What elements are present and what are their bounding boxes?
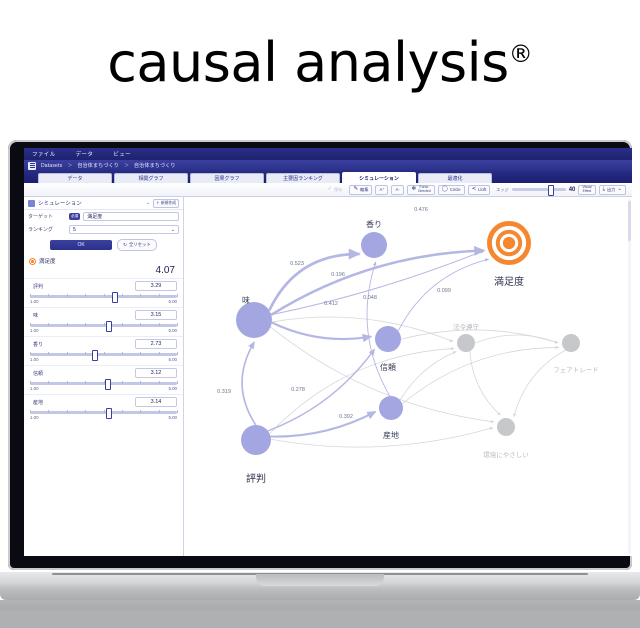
edge-weight-label: 0.278 <box>291 387 305 393</box>
slider-header: 信頼 3.12 <box>30 368 177 378</box>
slider-min: 1.00 <box>30 299 39 304</box>
slider-knob[interactable] <box>105 379 111 390</box>
network-icon: ✻ <box>411 187 416 193</box>
slider-ticks <box>30 410 177 414</box>
target-input[interactable]: 満足度 <box>83 212 179 221</box>
tab-bar: データ 相関グラフ 因果グラフ 主要因ランキング シミュレーション 最適化 <box>24 171 632 183</box>
layout-force-directed-label: Force- Directed <box>418 186 431 193</box>
ranking-label: ランキング <box>28 226 66 233</box>
toolbar: ✓ 保存 ✎ 編集 A⁺ A⁻ <box>24 183 632 197</box>
edge-weight-label: 0.196 <box>331 272 345 278</box>
slider-max: 5.00 <box>168 328 177 333</box>
ranking-value: 5 <box>73 227 76 233</box>
registered-trademark-icon: ® <box>509 40 533 68</box>
slider-min: 1.00 <box>30 415 39 420</box>
slider-header: 味 3.15 <box>30 310 177 320</box>
edge-weight-label: 0.412 <box>324 301 338 307</box>
slider-range: 1.00 6.00 <box>30 299 177 304</box>
graph-node-label: 産地 <box>383 430 399 441</box>
slider-value-input[interactable]: 3.12 <box>135 368 177 378</box>
refresh-icon: ↻ <box>123 242 127 248</box>
graph-node <box>361 232 387 258</box>
edit-label: 編集 <box>360 187 368 193</box>
simulation-panel-header: シミュレーション ⌄ ＋ 新規作成 <box>24 197 183 210</box>
slider-label: 信頼 <box>30 370 43 377</box>
slider-track[interactable] <box>30 323 177 327</box>
slider-value-input[interactable]: 3.14 <box>135 397 177 407</box>
graph-node <box>241 425 271 455</box>
causal-graph-svg[interactable] <box>184 197 632 556</box>
desk-surface <box>0 610 640 628</box>
graph-node <box>497 418 515 436</box>
breadcrumb-item-project[interactable]: 自治体まちづくり <box>77 162 119 169</box>
graph-node-label: 満足度 <box>494 273 524 288</box>
slider-label: 香り <box>30 341 43 348</box>
action-buttons: OK ↻ 全リセット <box>24 236 183 255</box>
tab-optimization[interactable]: 最適化 <box>418 173 492 183</box>
download-icon: ⤓ <box>603 187 605 193</box>
tab-data[interactable]: データ <box>38 173 112 183</box>
graph-node-label: 法令遵守 <box>453 321 479 331</box>
pencil-icon: ✎ <box>353 187 358 193</box>
slider-item: 評判 3.29 1.00 6.00 <box>24 278 183 307</box>
edge-weight-label: 0.048 <box>363 295 377 301</box>
graph-node <box>379 396 403 420</box>
ranking-select[interactable]: 5 ⌄ <box>69 225 179 234</box>
slider-item: 信頼 3.12 1.00 5.00 <box>24 365 183 394</box>
tab-simulation[interactable]: シミュレーション <box>342 172 416 183</box>
result-target-name: 満足度 <box>39 257 56 265</box>
slider-value-input[interactable]: 3.29 <box>135 281 177 291</box>
plus-icon: ＋ <box>156 201 160 206</box>
edge-weight-label: 0.476 <box>414 207 428 213</box>
slider-item: 味 3.15 1.00 5.00 <box>24 307 183 336</box>
chevron-down-icon[interactable]: ⌄ <box>146 200 150 206</box>
laptop-base-shadow <box>0 600 640 610</box>
slider-knob[interactable] <box>92 350 98 361</box>
slider-max: 5.00 <box>168 415 177 420</box>
laptop-screen: ファイル データ ビュー Datasets ＞ 自治体まちづくり ＞ 自治体まち… <box>24 148 632 556</box>
slider-header: 香り 2.73 <box>30 339 177 349</box>
edit-button[interactable]: ✎ 編集 <box>349 185 372 195</box>
slider-range: 1.00 5.00 <box>30 386 177 391</box>
save-label: 保存 <box>334 187 342 193</box>
slider-range: 1.00 5.00 <box>30 357 177 362</box>
breadcrumb-item-dataset[interactable]: 自治体まちづくり <box>134 162 176 169</box>
new-simulation-button[interactable]: ＋ 新規作成 <box>153 199 179 208</box>
required-badge: 必須 <box>69 213 80 220</box>
dataset-icon <box>28 162 36 170</box>
wordmark-text: causal analysis <box>107 31 509 94</box>
font-increase-button[interactable]: A⁺ <box>375 185 388 195</box>
slider-track[interactable] <box>30 410 177 414</box>
slider-ticks <box>30 381 177 385</box>
font-decrease-icon: A⁻ <box>395 187 400 192</box>
menu-bar: ファイル データ ビュー <box>24 148 632 160</box>
laptop-mockup: ファイル データ ビュー Datasets ＞ 自治体まちづくり ＞ 自治体まち… <box>0 140 640 628</box>
slider-header: 評判 3.29 <box>30 281 177 291</box>
slider-max: 5.00 <box>168 357 177 362</box>
chevron-down-icon: ⌄ <box>617 187 622 193</box>
laptop-lid: ファイル データ ビュー Datasets ＞ 自治体まちづくり ＞ 自治体まち… <box>8 140 632 570</box>
slider-track[interactable] <box>30 352 177 356</box>
ranking-field-row: ランキング 5 ⌄ <box>24 223 183 236</box>
slider-track[interactable] <box>30 381 177 385</box>
slider-header: 産地 3.14 <box>30 397 177 407</box>
slider-label: 味 <box>30 312 38 319</box>
save-button[interactable]: ✓ 保存 <box>323 185 346 195</box>
ok-button[interactable]: OK <box>50 240 112 250</box>
slider-range: 1.00 5.00 <box>30 415 177 420</box>
tab-correlation-graph[interactable]: 相関グラフ <box>114 173 188 183</box>
graph-node-label: 環境にやさしい <box>483 449 529 459</box>
edge-threshold-slider[interactable]: エッジ 40 <box>496 187 575 193</box>
slider-knob[interactable] <box>106 408 112 419</box>
graph-node <box>562 334 580 352</box>
menu-item-data[interactable]: データ <box>76 150 94 158</box>
slider-value-input[interactable]: 3.15 <box>135 310 177 320</box>
edge-threshold-label: エッジ <box>496 187 509 193</box>
simulation-panel-title: シミュレーション <box>38 199 143 207</box>
slider-knob[interactable] <box>106 321 112 332</box>
new-simulation-label: 新規作成 <box>161 201 176 206</box>
tab-factor-ranking[interactable]: 主要因ランキング <box>266 173 340 183</box>
slider-max: 5.00 <box>168 386 177 391</box>
slider-knob[interactable] <box>112 292 118 303</box>
application-window: ファイル データ ビュー Datasets ＞ 自治体まちづくり ＞ 自治体まち… <box>24 148 632 556</box>
simulation-icon <box>28 200 35 207</box>
reset-all-button[interactable]: ↻ 全リセット <box>117 239 157 251</box>
share-icon: ≺ <box>472 187 477 193</box>
causal-graph-canvas[interactable]: 香り味信頼産地評判満足度法令遵守フェアトレード環境にやさしい0.5230.476… <box>184 197 632 556</box>
breadcrumb: Datasets ＞ 自治体まちづくり ＞ 自治体まちづくり <box>24 160 632 171</box>
graph-node-label: 信頼 <box>380 362 396 373</box>
menu-item-view[interactable]: ビュー <box>113 150 131 158</box>
visual-effect-button[interactable]: Visual Effect <box>578 185 595 195</box>
tab-causal-graph[interactable]: 因果グラフ <box>190 173 264 183</box>
edge-weight-label: 0.392 <box>339 414 353 420</box>
layout-circle-button[interactable]: ◯ Circle <box>438 185 465 195</box>
slider-ticks <box>30 352 177 356</box>
graph-node-label: 味 <box>242 295 250 306</box>
edge-threshold-value: 40 <box>569 187 576 193</box>
graph-node <box>457 334 475 352</box>
layout-left-label: Lloft <box>478 187 486 192</box>
slider-ticks <box>30 323 177 327</box>
graph-node-label: フェアトレード <box>553 364 599 374</box>
slider-min: 1.00 <box>30 386 39 391</box>
edge-weight-label: 0.099 <box>437 288 451 294</box>
breadcrumb-separator: ＞ <box>124 162 129 169</box>
slider-value-input[interactable]: 2.73 <box>135 339 177 349</box>
graph-node-label: 香り <box>366 219 382 230</box>
result-target-value: 4.07 <box>24 265 183 278</box>
layout-circle-label: Circle <box>450 187 461 192</box>
target-node-icon <box>29 258 36 265</box>
circle-icon: ◯ <box>442 187 448 193</box>
slider-label: 評判 <box>30 283 43 290</box>
result-target-row: 満足度 <box>24 255 183 265</box>
graph-node-label: 評判 <box>246 470 266 485</box>
simulation-panel: シミュレーション ⌄ ＋ 新規作成 ターゲット 必須 満足度 <box>24 197 184 556</box>
edge-weight-label: 0.319 <box>217 389 231 395</box>
slider-max: 6.00 <box>168 299 177 304</box>
breadcrumb-item-datasets[interactable]: Datasets <box>41 163 62 169</box>
target-label: ターゲット <box>28 213 66 220</box>
laptop-notch <box>256 574 384 586</box>
slider-min: 1.00 <box>30 328 39 333</box>
menu-item-file[interactable]: ファイル <box>32 150 56 158</box>
graph-node <box>236 302 272 338</box>
wordmark: causal analysis® <box>0 36 640 90</box>
slider-min: 1.00 <box>30 357 39 362</box>
canvas-scrollbar[interactable] <box>628 199 631 554</box>
slider-item: 香り 2.73 1.00 5.00 <box>24 336 183 365</box>
layout-left-button[interactable]: ≺ Lloft <box>468 185 491 195</box>
slider-range: 1.00 5.00 <box>30 328 177 333</box>
slider-ticks <box>30 294 177 298</box>
check-icon: ✓ <box>327 187 332 193</box>
font-increase-icon: A⁺ <box>379 187 384 192</box>
graph-node <box>375 326 401 352</box>
target-field-row: ターゲット 必須 満足度 <box>24 210 183 223</box>
edge-threshold-knob[interactable] <box>548 185 554 196</box>
edge-threshold-track[interactable] <box>512 188 566 191</box>
reset-all-label: 全リセット <box>129 242 151 248</box>
visual-effect-label: Visual Effect <box>582 186 591 193</box>
font-decrease-button[interactable]: A⁻ <box>391 185 404 195</box>
download-button[interactable]: ⤓ 出力 ⌄ <box>599 185 626 195</box>
download-label: 出力 <box>607 187 615 193</box>
slider-track[interactable] <box>30 294 177 298</box>
slider-label: 産地 <box>30 399 43 406</box>
edge-weight-label: 0.523 <box>290 261 304 267</box>
chevron-down-icon: ⌄ <box>171 227 175 233</box>
breadcrumb-separator: ＞ <box>67 162 72 169</box>
slider-item: 産地 3.14 1.00 5.00 <box>24 394 183 423</box>
layout-force-directed-button[interactable]: ✻ Force- Directed <box>407 185 434 195</box>
screenshot-root: causal analysis® ファイル データ ビュー Datasets <box>0 0 640 628</box>
